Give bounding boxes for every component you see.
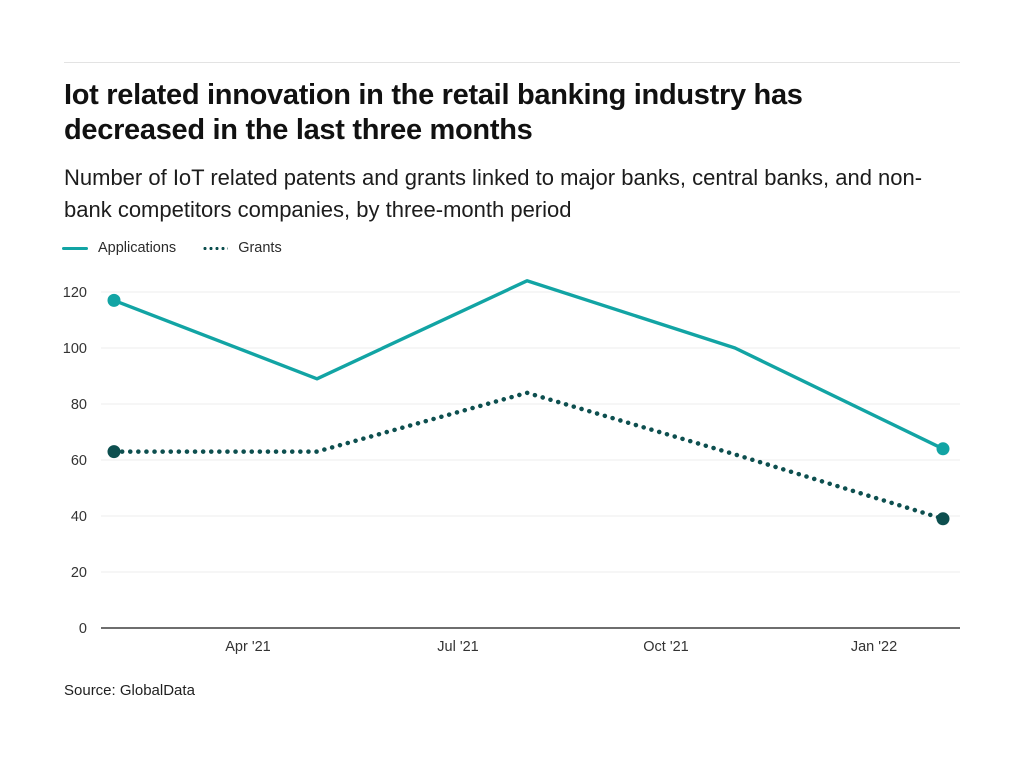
line-chart-plot: 020406080100120 Apr '21Jul '21Oct '21Jan… <box>0 0 1024 768</box>
series-line-applications <box>114 281 943 449</box>
source-note: Source: GlobalData <box>64 682 195 699</box>
y-axis-tick-label: 100 <box>63 341 87 357</box>
y-axis-tick-label: 60 <box>71 453 87 469</box>
chart-series-layer <box>108 281 950 526</box>
y-axis-tick-labels: 020406080100120 <box>63 285 87 637</box>
y-axis-tick-label: 0 <box>79 621 87 637</box>
x-axis-tick-label: Jan '22 <box>851 639 897 655</box>
y-axis-tick-label: 80 <box>71 397 87 413</box>
data-point-marker[interactable] <box>937 512 950 525</box>
data-point-marker[interactable] <box>108 294 121 307</box>
chart-page: Iot related innovation in the retail ban… <box>0 0 1024 768</box>
data-point-marker[interactable] <box>108 445 121 458</box>
y-axis-tick-label: 40 <box>71 509 87 525</box>
x-axis-tick-label: Jul '21 <box>437 639 478 655</box>
data-point-marker[interactable] <box>937 442 950 455</box>
series-line-grants <box>114 393 943 519</box>
y-axis-tick-label: 120 <box>63 285 87 301</box>
x-axis-tick-label: Oct '21 <box>643 639 688 655</box>
y-axis-tick-label: 20 <box>71 565 87 581</box>
chart-gridlines <box>101 292 960 572</box>
x-axis-tick-label: Apr '21 <box>225 639 271 655</box>
x-axis-tick-labels: Apr '21Jul '21Oct '21Jan '22 <box>225 639 897 655</box>
